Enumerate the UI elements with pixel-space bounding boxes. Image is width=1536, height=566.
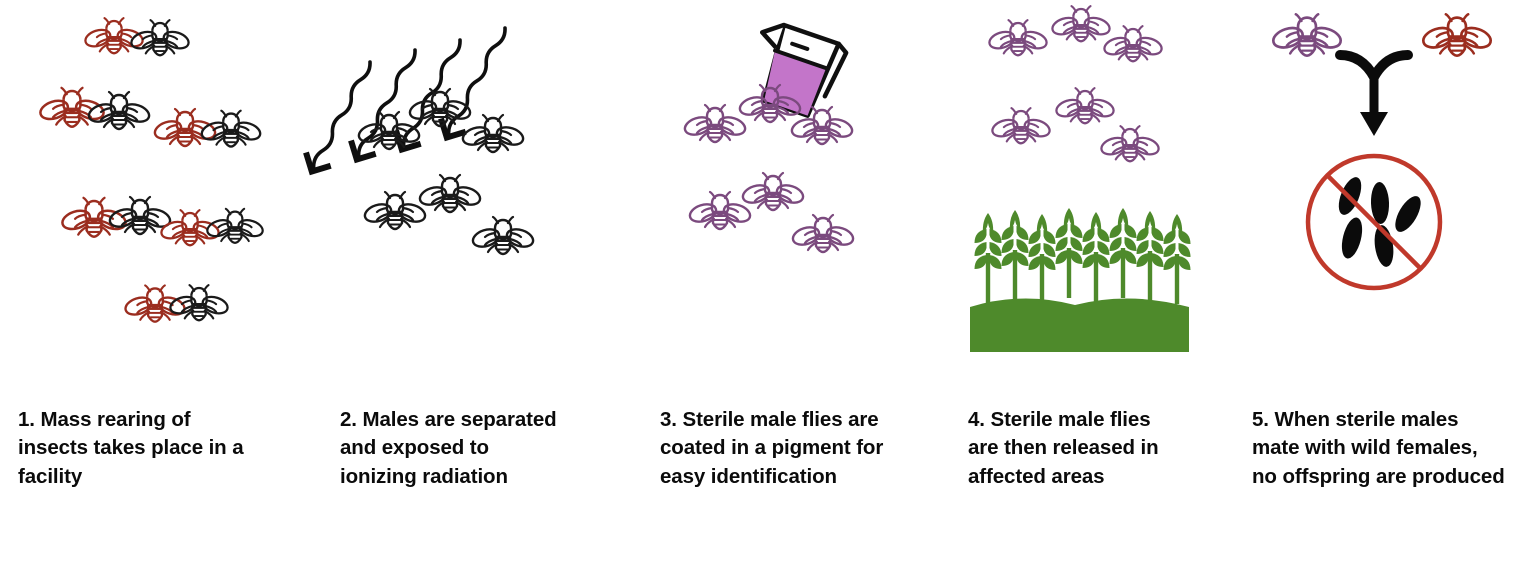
sterile-fly-icon bbox=[1050, 6, 1111, 41]
wild-female-fly-icon bbox=[1421, 14, 1493, 55]
fly-pair-5 bbox=[159, 209, 264, 245]
lab-fly-icon bbox=[471, 217, 536, 254]
panel-3-caption: 3. Sterile male flies are coated in a pi… bbox=[660, 406, 928, 491]
wheat-stalk-icon bbox=[975, 213, 1002, 303]
panel-2-illustration bbox=[340, 0, 640, 400]
panel-4-caption: 4. Sterile male flies are then released … bbox=[968, 406, 1218, 491]
panel-step-5: 5. When sterile males mate with wild fem… bbox=[1252, 0, 1536, 566]
wild-fly-icon bbox=[153, 109, 218, 146]
lab-fly-icon bbox=[418, 175, 483, 212]
wild-fly-icon bbox=[60, 198, 128, 237]
wild-fly-icon bbox=[123, 285, 186, 321]
panel-5-caption: 5. When sterile males mate with wild fem… bbox=[1252, 406, 1536, 491]
merge-arrow-icon bbox=[1340, 55, 1408, 136]
lab-fly-icon bbox=[200, 111, 263, 147]
radiation-arrow-icon bbox=[389, 33, 472, 156]
wheat-stalk-icon bbox=[1137, 211, 1164, 301]
sterile-fly-icon bbox=[990, 108, 1051, 143]
sterile-fly-icon bbox=[1054, 88, 1115, 123]
fly-pair-2 bbox=[38, 88, 151, 129]
panel-2-caption: 2. Males are separated and exposed to io… bbox=[340, 406, 610, 491]
sterile-fly-icon bbox=[987, 20, 1048, 55]
lab-fly-icon bbox=[87, 92, 152, 129]
panel-4-illustration bbox=[968, 0, 1248, 400]
lab-fly-icon bbox=[363, 192, 428, 229]
wheat-field-icon bbox=[970, 208, 1191, 352]
sterile-fly-icon bbox=[791, 215, 856, 252]
fly-pair-6 bbox=[123, 285, 229, 322]
fly-pair-4 bbox=[60, 197, 172, 237]
panel-step-2: 2. Males are separated and exposed to io… bbox=[340, 0, 640, 566]
wheat-stalk-icon bbox=[1083, 212, 1110, 302]
sterile-fly-icon bbox=[1102, 26, 1163, 61]
wheat-stalk-icon bbox=[1164, 214, 1191, 304]
sterile-fly-icon bbox=[1099, 126, 1160, 161]
sterile-fly-icon bbox=[741, 173, 806, 210]
panel-1-illustration bbox=[18, 0, 318, 400]
panel-step-1: 1. Mass rearing of insects takes place i… bbox=[18, 0, 318, 566]
sterile-fly-icon bbox=[683, 105, 748, 142]
no-offspring-icon bbox=[1308, 156, 1440, 288]
wheat-stalk-icon bbox=[1056, 208, 1083, 298]
wheat-stalk-icon bbox=[1029, 214, 1056, 304]
panel-3-illustration bbox=[660, 0, 960, 400]
panel-step-4: 4. Sterile male flies are then released … bbox=[968, 0, 1248, 566]
wheat-stalk-icon bbox=[1002, 210, 1029, 300]
lab-fly-icon bbox=[129, 20, 190, 55]
sterile-insect-technique-infographic: 1. Mass rearing of insects takes place i… bbox=[0, 0, 1536, 566]
panel-step-3: 3. Sterile male flies are coated in a pi… bbox=[660, 0, 960, 566]
fly-pair-1 bbox=[83, 18, 190, 55]
lab-fly-icon bbox=[461, 115, 526, 152]
sterile-male-fly-icon bbox=[1271, 14, 1343, 55]
wheat-stalk-icon bbox=[1110, 208, 1137, 298]
panel-1-caption: 1. Mass rearing of insects takes place i… bbox=[18, 406, 286, 491]
panel-5-illustration bbox=[1252, 0, 1536, 400]
fly-pair-3 bbox=[153, 109, 263, 147]
radiation-arrow-icon bbox=[434, 21, 517, 144]
egg-cluster-icon bbox=[1334, 174, 1426, 268]
beaker-icon bbox=[741, 19, 848, 121]
